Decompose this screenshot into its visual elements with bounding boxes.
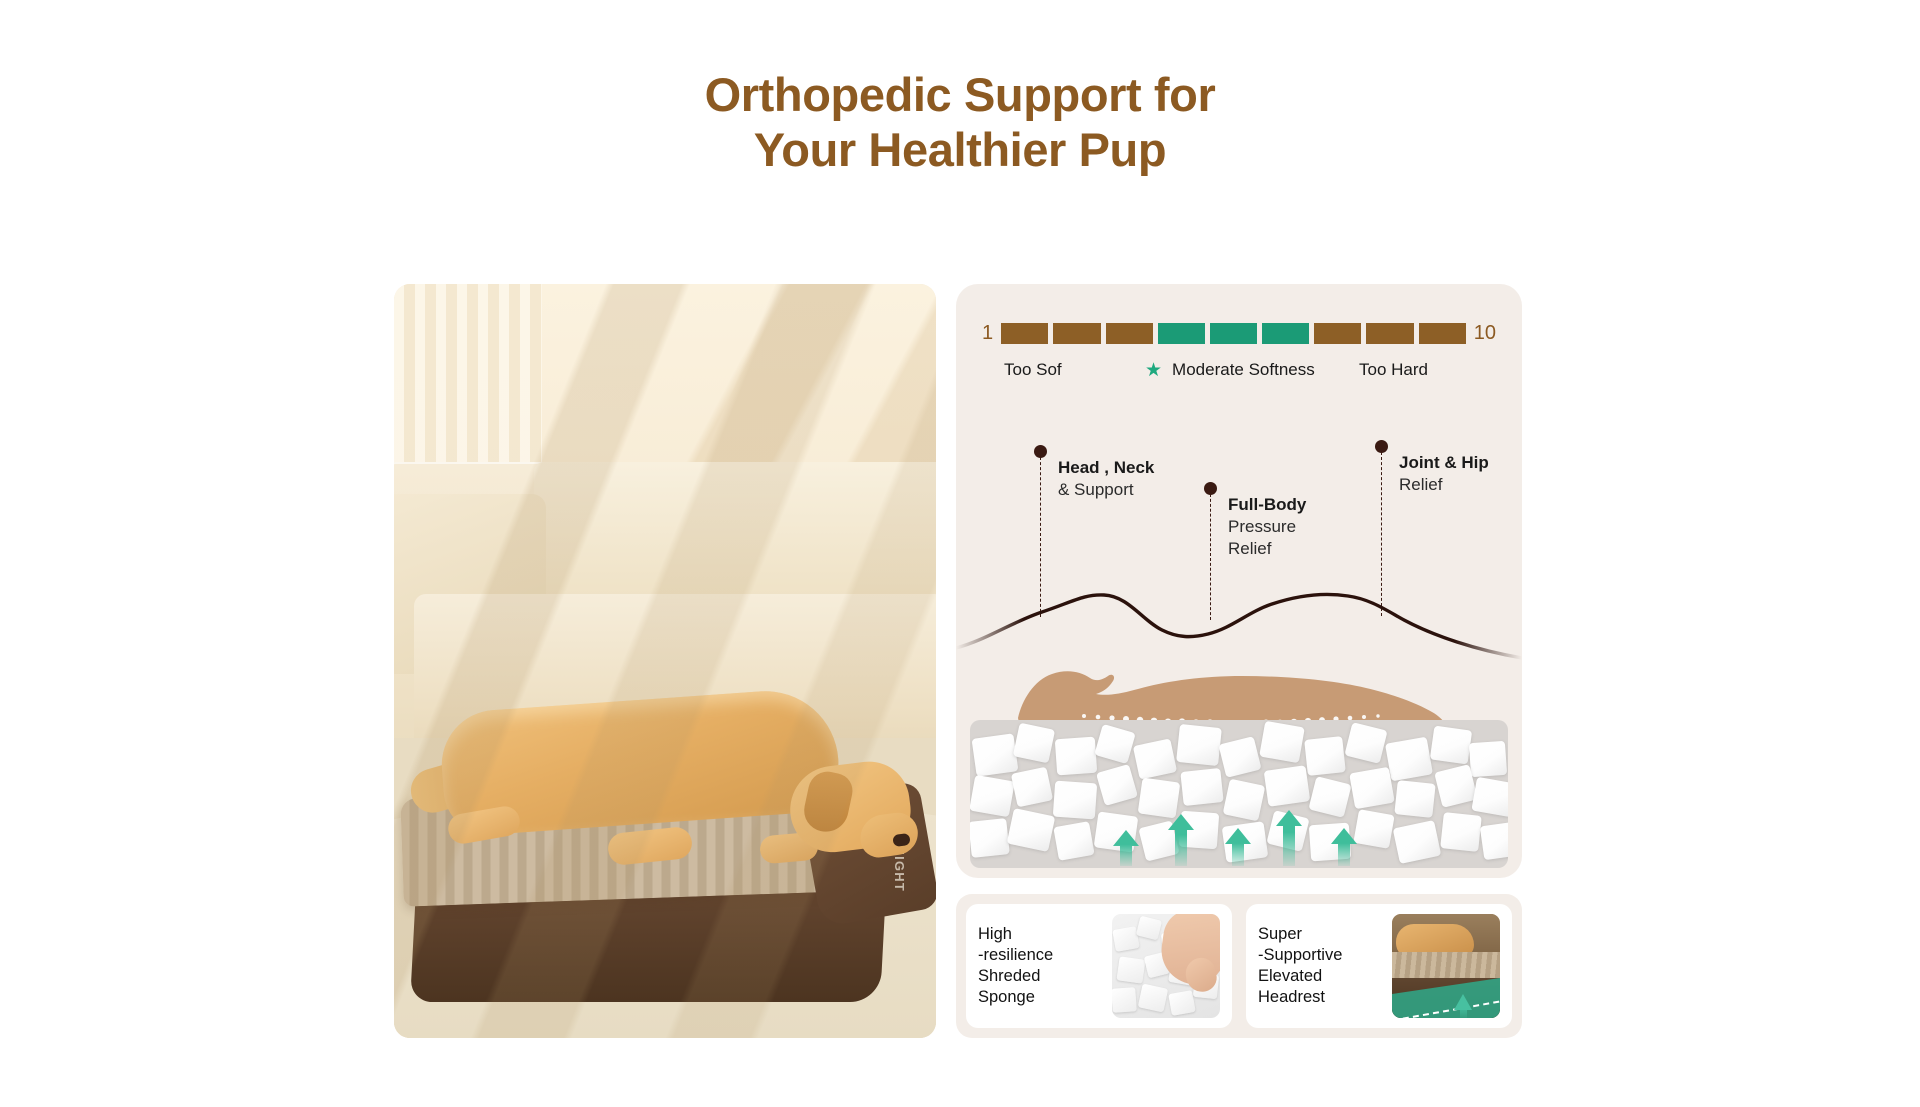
scale-segment — [1106, 323, 1153, 344]
sponge-cube — [1116, 956, 1145, 983]
hero-photo: GOODNIGHT — [394, 284, 936, 1038]
scale-label-moderate-text: Moderate Softness — [1172, 360, 1315, 380]
sponge-cube — [1138, 984, 1168, 1013]
callout-text: Full-Body Pressure Relief — [1228, 494, 1306, 559]
sponge-cube — [1112, 987, 1137, 1013]
feature-card-text: High -resilience Shreded Sponge — [978, 924, 1053, 1008]
feature-line-1: Super — [1258, 924, 1342, 945]
feature-line-4: Sponge — [978, 987, 1053, 1008]
page-title-line-2: Your Healthier Pup — [0, 123, 1920, 178]
shredded-sponge-photo — [1112, 914, 1220, 1018]
support-arrows — [970, 720, 1508, 868]
feature-line-4: Headrest — [1258, 987, 1342, 1008]
softness-scale-labels: Too Sof ★ Moderate Softness Too Hard — [982, 360, 1496, 384]
headrest-up-arrow-icon — [1454, 994, 1472, 1010]
scale-max-label: 10 — [1474, 323, 1496, 343]
scale-segment — [1158, 323, 1205, 344]
feature-card-shredded-sponge[interactable]: High -resilience Shreded Sponge — [966, 904, 1232, 1028]
callout-subtitle-line1: Pressure — [1228, 516, 1306, 538]
page-title-line-1: Orthopedic Support for — [0, 68, 1920, 123]
feature-line-3: Shreded — [978, 966, 1053, 987]
scale-min-label: 1 — [982, 323, 993, 343]
scale-segment — [1262, 323, 1309, 344]
scale-segment — [1053, 323, 1100, 344]
feature-line-3: Elevated — [1258, 966, 1342, 987]
callout-subtitle: & Support — [1058, 479, 1154, 501]
infographic-root: Orthopedic Support for Your Healthier Pu… — [0, 0, 1920, 1107]
scale-segment — [1419, 323, 1466, 344]
scale-segment — [1366, 323, 1413, 344]
callout-subtitle: Relief — [1399, 474, 1489, 496]
feature-card-elevated-headrest[interactable]: Super -Supportive Elevated Headrest — [1246, 904, 1512, 1028]
scale-segment — [1210, 323, 1257, 344]
feature-line-2: -Supportive — [1258, 945, 1342, 966]
softness-scale: 1 10 — [982, 321, 1496, 345]
scale-segment — [1001, 323, 1048, 344]
sponge-cube — [1112, 926, 1139, 952]
callout-title: Head , Neck — [1058, 457, 1154, 479]
feature-cards-container: High -resilience Shreded Sponge — [956, 894, 1522, 1038]
sofa-backrest — [534, 462, 936, 598]
callout-text: Head , Neck & Support — [1058, 457, 1154, 501]
callout-title: Joint & Hip — [1399, 452, 1489, 474]
shredded-foam-layer — [970, 720, 1508, 868]
elevated-headrest-photo — [1392, 914, 1500, 1018]
feature-line-2: -resilience — [978, 945, 1053, 966]
star-icon: ★ — [1145, 361, 1162, 380]
sponge-cube — [1136, 916, 1162, 941]
sponge-cube — [1168, 990, 1195, 1016]
page-title: Orthopedic Support for Your Healthier Pu… — [0, 68, 1920, 178]
orthopedic-diagram-panel: 1 10 Too Sof ★ Moderate Softness Too Har… — [956, 284, 1522, 878]
scale-label-too-soft: Too Sof — [1004, 360, 1062, 380]
scale-segment — [1314, 323, 1361, 344]
scale-segments — [1001, 323, 1466, 344]
callout-subtitle-line2: Relief — [1228, 538, 1306, 560]
feature-line-1: High — [978, 924, 1053, 945]
scale-label-moderate: ★ Moderate Softness — [1145, 360, 1315, 380]
callout-text: Joint & Hip Relief — [1399, 452, 1489, 496]
scale-label-too-hard: Too Hard — [1359, 360, 1428, 380]
feature-card-text: Super -Supportive Elevated Headrest — [1258, 924, 1342, 1008]
support-arrow — [1113, 810, 1357, 866]
callout-title: Full-Body — [1228, 494, 1306, 516]
